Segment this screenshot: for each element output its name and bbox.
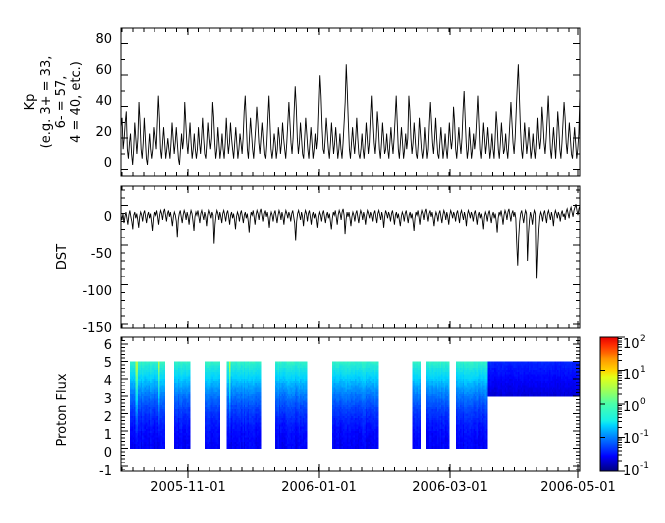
pf-ytick-label-1: 1: [104, 428, 112, 443]
pf-ytick-label-5: 5: [104, 356, 112, 371]
pf-ytick-label-6: 6: [104, 338, 112, 353]
heatmap-cell: [163, 446, 165, 449]
kp-ytick-label-0: 0: [104, 156, 112, 171]
dst-ytick-label-0: 0: [104, 210, 112, 225]
dst-ytick-label-m50: -50: [91, 247, 112, 262]
pf-ytick-label-3: 3: [104, 392, 112, 407]
pf-ylabel: Proton Flux: [55, 373, 70, 446]
dst-ylabel: DST: [55, 244, 70, 270]
kp-ylabel-line-2: (e.g. 3+ = 33,: [39, 56, 54, 149]
kp-ytick-label-20: 20: [95, 125, 112, 140]
dst-ytick-label-m150: -150: [82, 321, 112, 336]
heatmap-cell: [306, 446, 308, 449]
kp-ytick-label-40: 40: [95, 94, 112, 109]
heatmap-cell: [260, 446, 262, 449]
pf-ytick-label-4: 4: [104, 374, 112, 389]
kp-ytick-label-60: 60: [95, 63, 112, 78]
kp-ylabel-line-3: 6- = 57,: [54, 76, 69, 129]
pf-ytick-label-m1: -1: [99, 464, 112, 479]
pf-ytick-label-2: 2: [104, 410, 112, 425]
figure-canvas: 0 20 40 60 80 Kp (e.g. 3+ = 33, 6- = 57,…: [0, 0, 665, 523]
dst-ytick-label-m100: -100: [82, 284, 112, 299]
plot-figure: 0 20 40 60 80 Kp (e.g. 3+ = 33, 6- = 57,…: [0, 0, 665, 523]
pf-ytick-label-0: 0: [104, 446, 112, 461]
kp-ylabel-line-1: Kp: [23, 94, 38, 111]
kp-ylabel-line-4: 4 = 40, etc.): [69, 61, 84, 143]
heatmap-cell: [189, 446, 191, 449]
heatmap-cell: [218, 446, 220, 449]
kp-ytick-label-80: 80: [95, 32, 112, 47]
